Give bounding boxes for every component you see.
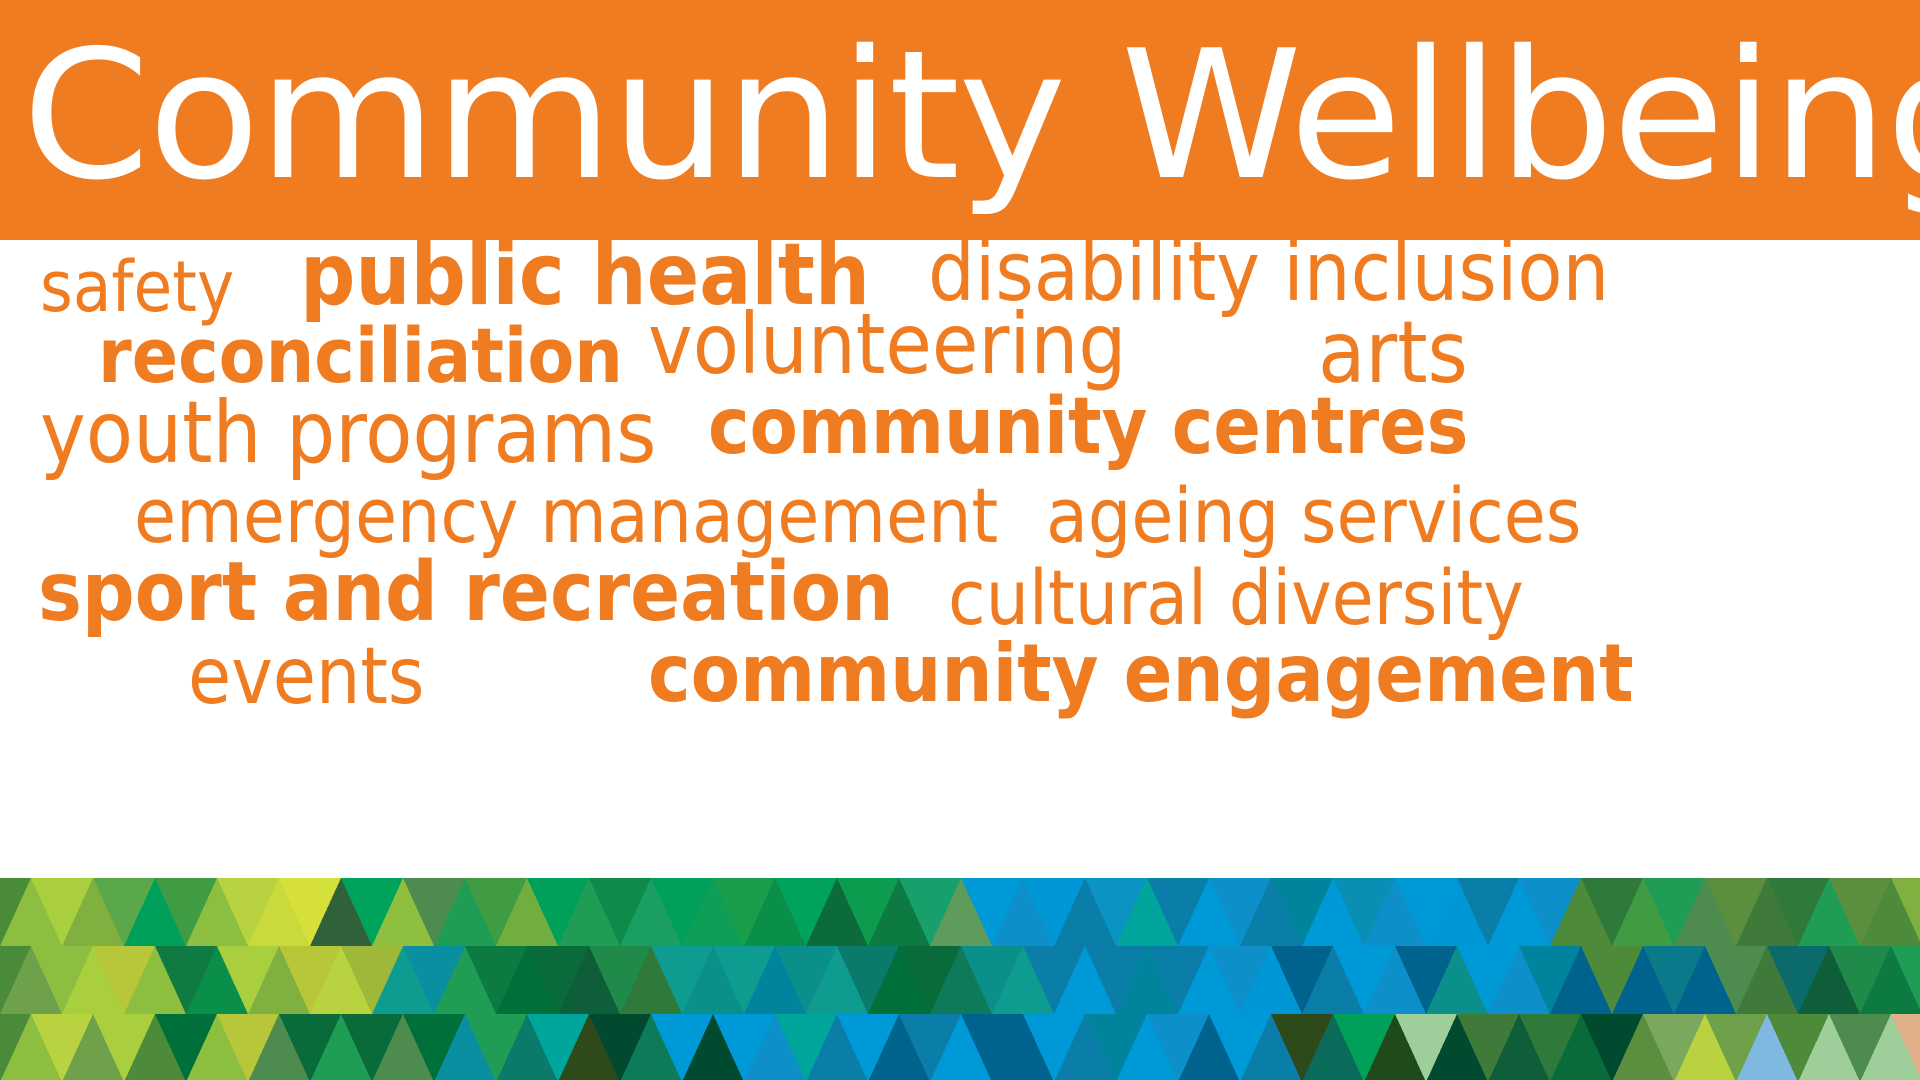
cloud-word: volunteering	[648, 302, 1126, 386]
cloud-word: ageing services	[1046, 478, 1581, 554]
cloud-word: youth programs	[40, 390, 656, 476]
triangle-mosaic-band	[0, 878, 1920, 1080]
triangle-mosaic-graphic	[0, 878, 1920, 1080]
cloud-word: cultural diversity	[948, 560, 1524, 636]
cloud-word: emergency management	[134, 478, 998, 554]
word-cloud: safetypublic healthdisability inclusionr…	[0, 240, 1920, 878]
cloud-word: community centres	[708, 388, 1468, 466]
header-banner: Community Wellbeing	[0, 0, 1920, 240]
cloud-word: community engagement	[648, 634, 1634, 714]
cloud-word: sport and recreation	[38, 552, 894, 634]
cloud-word: events	[188, 638, 424, 716]
wellbeing-banner-page: Community Wellbeing safetypublic healthd…	[0, 0, 1920, 1080]
page-title: Community Wellbeing	[22, 8, 1920, 223]
